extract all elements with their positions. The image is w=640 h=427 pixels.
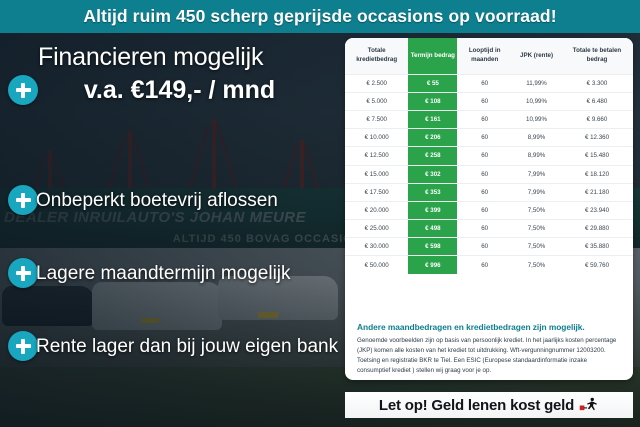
cell-totaal: € 15.480: [561, 147, 633, 165]
cell-jkp: 10,99%: [512, 110, 561, 128]
cell-jkp: 8,99%: [512, 147, 561, 165]
left-content-column: Financieren mogelijk v.a. €149,- / mnd O…: [0, 33, 345, 427]
cell-krediet: € 17.500: [345, 183, 408, 201]
running-man-icon: [579, 397, 599, 414]
table-row: € 10.000€ 206608,99%€ 12.360: [345, 129, 633, 147]
legal-body: Genoemde voorbeelden zijn op basis van p…: [357, 336, 621, 376]
top-banner: Altijd ruim 450 scherp geprijsde occasio…: [0, 0, 640, 33]
cell-termijn: € 258: [408, 147, 457, 165]
cell-looptijd: 60: [457, 201, 512, 219]
cell-termijn: € 302: [408, 165, 457, 183]
cell-krediet: € 50.000: [345, 256, 408, 274]
bullet-item-label: Rente lager dan bij jouw eigen bank: [36, 337, 336, 356]
plus-icon-vertical-bar: [21, 339, 25, 354]
cell-krediet: € 15.000: [345, 165, 408, 183]
cell-termijn: € 55: [408, 74, 457, 92]
cell-termijn: € 108: [408, 92, 457, 110]
headline-block: Financieren mogelijk v.a. €149,- / mnd: [38, 43, 339, 105]
cell-totaal: € 12.360: [561, 129, 633, 147]
cell-jkp: 7,50%: [512, 256, 561, 274]
cell-jkp: 10,99%: [512, 92, 561, 110]
cell-krediet: € 2.500: [345, 74, 408, 92]
plus-icon: [8, 185, 38, 215]
cell-termijn: € 353: [408, 183, 457, 201]
cell-looptijd: 60: [457, 129, 512, 147]
cell-jkp: 7,99%: [512, 183, 561, 201]
cell-looptijd: 60: [457, 92, 512, 110]
cell-totaal: € 29.880: [561, 220, 633, 238]
plus-icon: [8, 258, 38, 288]
cell-totaal: € 23.940: [561, 201, 633, 219]
table-row: € 17.500€ 353607,99%€ 21.180: [345, 183, 633, 201]
cell-jkp: 7,50%: [512, 220, 561, 238]
cell-termijn: € 498: [408, 220, 457, 238]
plus-icon-vertical-bar: [21, 266, 25, 281]
rate-table: Totale kredietbedrag Termijn bedrag Loop…: [345, 38, 633, 274]
legal-title: Andere maandbedragen en kredietbedragen …: [357, 322, 621, 332]
cell-termijn: € 598: [408, 238, 457, 256]
cell-krediet: € 7.500: [345, 110, 408, 128]
top-banner-text: Altijd ruim 450 scherp geprijsde occasio…: [83, 6, 556, 27]
cell-looptijd: 60: [457, 256, 512, 274]
table-row: € 15.000€ 302607,99%€ 18.120: [345, 165, 633, 183]
cell-looptijd: 60: [457, 183, 512, 201]
legal-disclaimer-block: Andere maandbedragen en kredietbedragen …: [345, 310, 633, 392]
rate-table-body: € 2.500€ 556011,99%€ 3.300€ 5.000€ 10860…: [345, 74, 633, 274]
plus-icon-vertical-bar: [21, 193, 25, 208]
cell-looptijd: 60: [457, 110, 512, 128]
cell-jkp: 8,99%: [512, 129, 561, 147]
cell-looptijd: 60: [457, 165, 512, 183]
cell-krediet: € 25.000: [345, 220, 408, 238]
cell-totaal: € 18.120: [561, 165, 633, 183]
credit-warning-text: Let op! Geld lenen kost geld: [379, 397, 574, 414]
bullet-item-label: Lagere maandtermijn mogelijk: [36, 264, 336, 283]
cell-totaal: € 35.880: [561, 238, 633, 256]
column-header-krediet: Totale kredietbedrag: [345, 38, 408, 74]
cell-krediet: € 5.000: [345, 92, 408, 110]
headline-line-2: v.a. €149,- / mnd: [38, 75, 339, 105]
bullet-item-label: Onbeperkt boetevrij aflossen: [36, 191, 336, 210]
cell-jkp: 7,50%: [512, 201, 561, 219]
cell-totaal: € 9.660: [561, 110, 633, 128]
plus-icon: [8, 75, 38, 105]
table-row: € 30.000€ 598607,50%€ 35.880: [345, 238, 633, 256]
cell-krediet: € 20.000: [345, 201, 408, 219]
credit-warning-bar: Let op! Geld lenen kost geld: [345, 392, 633, 418]
cell-totaal: € 6.480: [561, 92, 633, 110]
cell-totaal: € 59.760: [561, 256, 633, 274]
cell-krediet: € 30.000: [345, 238, 408, 256]
column-header-termijn: Termijn bedrag: [408, 38, 457, 74]
table-row: € 25.000€ 498607,50%€ 29.880: [345, 220, 633, 238]
table-row: € 50.000€ 996607,50%€ 59.760: [345, 256, 633, 274]
cell-termijn: € 206: [408, 129, 457, 147]
cell-krediet: € 10.000: [345, 129, 408, 147]
cell-termijn: € 399: [408, 201, 457, 219]
column-header-looptijd: Looptijd in maanden: [457, 38, 512, 74]
cell-totaal: € 21.180: [561, 183, 633, 201]
table-row: € 5.000€ 1086010,99%€ 6.480: [345, 92, 633, 110]
plus-icon-vertical-bar: [21, 83, 25, 98]
cell-jkp: 7,50%: [512, 238, 561, 256]
advertisement-banner: DEALER INRUILAUTO'S JOHAN MEURE ALTIJD 4…: [0, 0, 640, 427]
column-header-totaal: Totale te betalen bedrag: [561, 38, 633, 74]
column-header-jkp: JPK (rente): [512, 38, 561, 74]
cell-looptijd: 60: [457, 74, 512, 92]
cell-jkp: 11,99%: [512, 74, 561, 92]
table-header-row: Totale kredietbedrag Termijn bedrag Loop…: [345, 38, 633, 74]
table-row: € 20.000€ 399607,50%€ 23.940: [345, 201, 633, 219]
table-row: € 2.500€ 556011,99%€ 3.300: [345, 74, 633, 92]
table-row: € 7.500€ 1616010,99%€ 9.660: [345, 110, 633, 128]
headline-line-1: Financieren mogelijk: [38, 43, 339, 71]
cell-termijn: € 996: [408, 256, 457, 274]
plus-icon: [8, 331, 38, 361]
cell-looptijd: 60: [457, 220, 512, 238]
cell-jkp: 7,99%: [512, 165, 561, 183]
cell-totaal: € 3.300: [561, 74, 633, 92]
cell-looptijd: 60: [457, 238, 512, 256]
cell-looptijd: 60: [457, 147, 512, 165]
table-row: € 12.500€ 258608,99%€ 15.480: [345, 147, 633, 165]
cell-termijn: € 161: [408, 110, 457, 128]
cell-krediet: € 12.500: [345, 147, 408, 165]
